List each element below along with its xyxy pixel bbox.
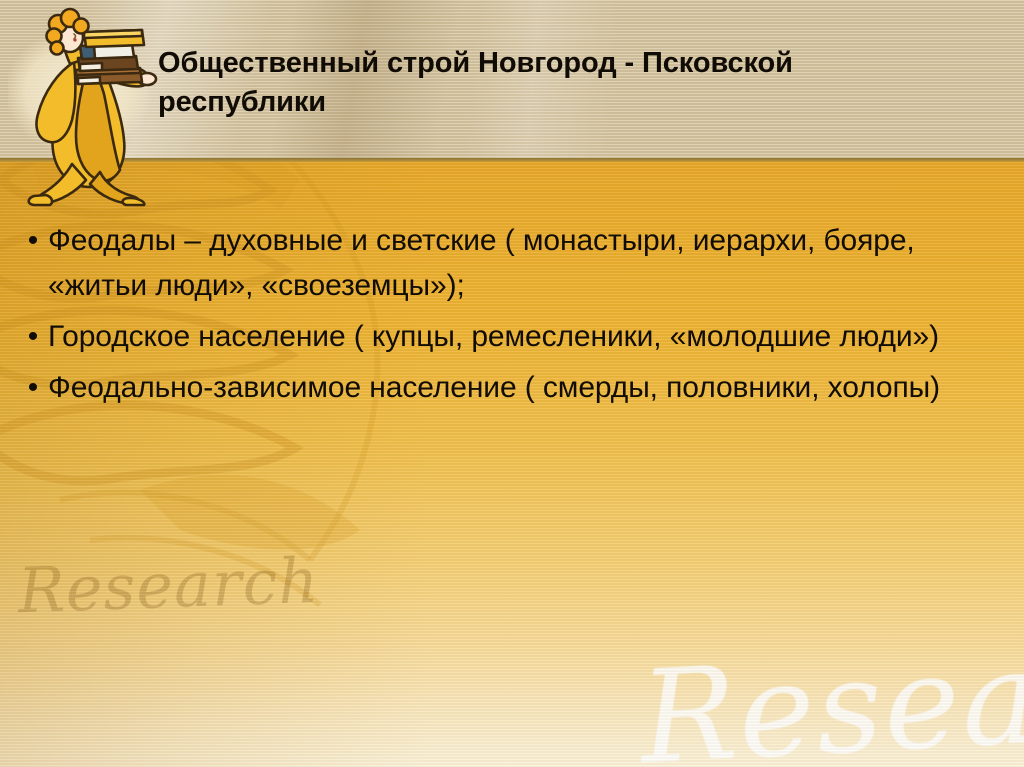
- presentation-slide: Research Research Общественный строй Нов…: [0, 0, 1024, 767]
- list-item: • Городское население ( купцы, ремеслени…: [18, 314, 993, 359]
- bullet-marker-icon: •: [18, 365, 48, 410]
- student-carrying-books-icon: [14, 2, 174, 207]
- list-item: • Феодально-зависимое население ( смерды…: [18, 365, 993, 410]
- slide-title: Общественный строй Новгород - Псковской …: [158, 44, 898, 122]
- list-item-text: Городское население ( купцы, ремесленики…: [48, 314, 993, 359]
- slide-bullet-list: • Феодалы – духовные и светские ( монаст…: [18, 218, 993, 416]
- bullet-marker-icon: •: [18, 314, 48, 359]
- list-item-text: Феодалы – духовные и светские ( монастыр…: [48, 218, 993, 308]
- list-item-text: Феодально-зависимое население ( смерды, …: [48, 365, 993, 410]
- bullet-marker-icon: •: [18, 218, 48, 263]
- list-item: • Феодалы – духовные и светские ( монаст…: [18, 218, 993, 308]
